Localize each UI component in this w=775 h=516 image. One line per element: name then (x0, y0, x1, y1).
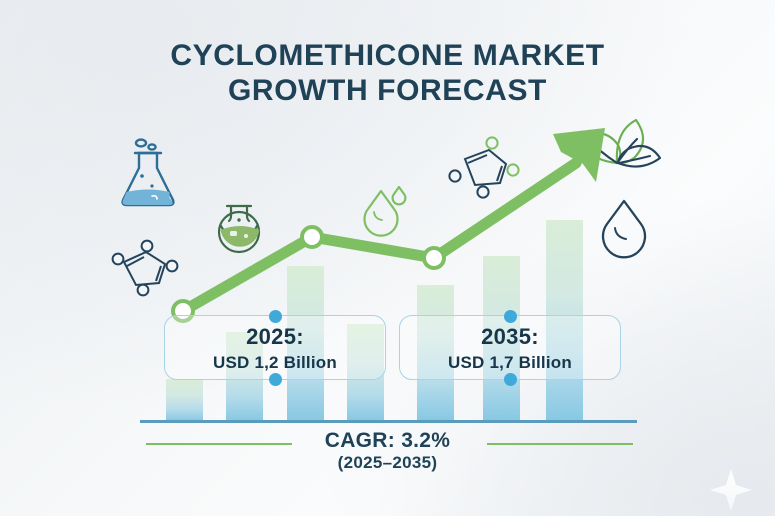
callout-dot-top (269, 310, 282, 323)
trend-marker-dip (424, 248, 444, 268)
callout-dot-top (504, 310, 517, 323)
footer-cagr: CAGR: 3.2% (2025–2035) (0, 429, 775, 473)
callout-value-2035: USD 1,7 Billion (400, 352, 620, 374)
callout-value-2025: USD 1,2 Billion (165, 352, 385, 374)
cagr-period: (2025–2035) (0, 453, 775, 473)
callout-card-2035[interactable]: 2035: USD 1,7 Billion (399, 315, 621, 380)
callout-year-2025: 2025: (165, 324, 385, 351)
callout-dot-bottom (269, 373, 282, 386)
callout-year-2035: 2035: (400, 324, 620, 351)
callout-dot-bottom (504, 373, 517, 386)
title-line-2: GROWTH FORECAST (0, 73, 775, 108)
title-line-1: CYCLOMETHICONE MARKET (0, 38, 775, 73)
trend-marker-peak (302, 227, 322, 247)
trend-line-series (173, 128, 605, 321)
infographic-canvas: CYCLOMETHICONE MARKET GROWTH FORECAST 20… (0, 0, 775, 516)
page-title: CYCLOMETHICONE MARKET GROWTH FORECAST (0, 38, 775, 109)
cagr-value: CAGR: 3.2% (325, 429, 451, 452)
callout-card-2025[interactable]: 2025: USD 1,2 Billion (164, 315, 386, 380)
bar-2025 (166, 379, 203, 421)
